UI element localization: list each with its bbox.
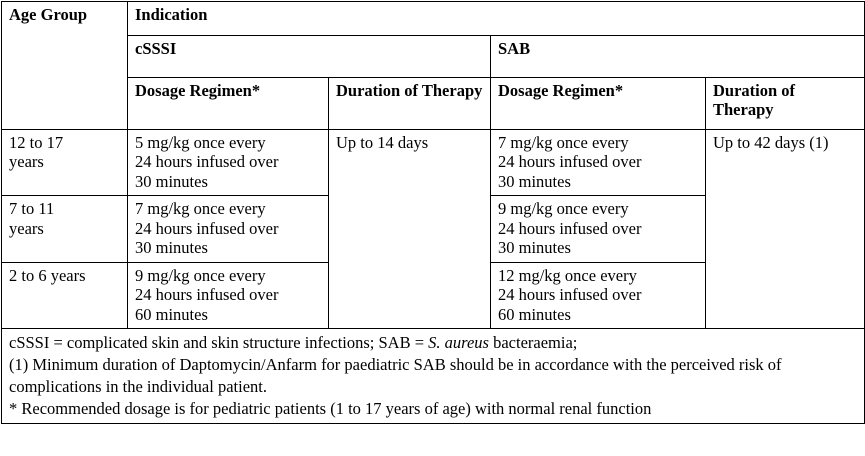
header-row-indication: Age Group Indication [2, 2, 865, 36]
cssi-dose-line-2: 24 hours infused over [135, 285, 322, 304]
cell-sab-duration: Up to 42 days (1) [706, 130, 865, 329]
pediatric-dosage-table: Age Group Indication cSSSI SAB Dosage Re… [1, 1, 865, 424]
cell-age-group: 7 to 11 years [2, 196, 128, 262]
dosage-table-document: Age Group Indication cSSSI SAB Dosage Re… [0, 1, 865, 456]
table-row: 12 to 17 years 5 mg/kg once every 24 hou… [2, 130, 865, 196]
sab-dose-line-3: 30 minutes [498, 172, 699, 191]
footnote-abbrev-prefix: cSSSI = complicated skin and skin struct… [9, 333, 428, 352]
footnote-note-asterisk: * Recommended dosage is for pediatric pa… [9, 398, 858, 420]
cssi-dose-line-3: 30 minutes [135, 172, 322, 191]
header-duration-therapy-sab: Duration of Therapy [706, 78, 865, 130]
sab-dose-line-2: 24 hours infused over [498, 285, 699, 304]
cell-sab-dosage: 7 mg/kg once every 24 hours infused over… [491, 130, 706, 196]
sab-dose-line-3: 60 minutes [498, 305, 699, 324]
cssi-dose-line-1: 7 mg/kg once every [135, 199, 322, 218]
header-sab: SAB [491, 36, 865, 78]
cssi-dose-line-3: 60 minutes [135, 305, 322, 324]
sab-dose-line-3: 30 minutes [498, 238, 699, 257]
age-group-line-1: 12 to 17 [9, 133, 121, 152]
cell-cssi-dosage: 7 mg/kg once every 24 hours infused over… [128, 196, 329, 262]
header-indication: Indication [128, 2, 865, 36]
cell-sab-dosage: 9 mg/kg once every 24 hours infused over… [491, 196, 706, 262]
cssi-dose-line-2: 24 hours infused over [135, 219, 322, 238]
age-group-line-2: years [9, 219, 121, 238]
sab-dose-line-1: 7 mg/kg once every [498, 133, 699, 152]
cell-age-group: 12 to 17 years [2, 130, 128, 196]
footnote-note-1: (1) Minimum duration of Daptomycin/Anfar… [9, 354, 858, 398]
sab-dose-line-2: 24 hours infused over [498, 219, 699, 238]
footnote-abbrev-italic: S. aureus [428, 333, 489, 352]
cell-age-group: 2 to 6 years [2, 262, 128, 328]
footnote-abbreviations: cSSSI = complicated skin and skin struct… [9, 332, 858, 354]
header-row-indication-types: cSSSI SAB [2, 36, 865, 78]
age-group-line-2: years [9, 152, 121, 171]
cssi-dose-line-1: 9 mg/kg once every [135, 266, 322, 285]
sab-dose-line-2: 24 hours infused over [498, 152, 699, 171]
sab-dose-line-1: 9 mg/kg once every [498, 199, 699, 218]
header-dosage-regimen-sab: Dosage Regimen* [491, 78, 706, 130]
cssi-dose-line-2: 24 hours infused over [135, 152, 322, 171]
age-group-line-1: 7 to 11 [9, 199, 121, 218]
header-duration-therapy-cssi: Duration of Therapy [329, 78, 491, 130]
header-dosage-regimen-cssi: Dosage Regimen* [128, 78, 329, 130]
cell-sab-dosage: 12 mg/kg once every 24 hours infused ove… [491, 262, 706, 328]
cssi-dose-line-3: 30 minutes [135, 238, 322, 257]
cssi-dose-line-1: 5 mg/kg once every [135, 133, 322, 152]
cell-cssi-duration: Up to 14 days [329, 130, 491, 329]
header-cssi: cSSSI [128, 36, 491, 78]
age-group-line-1: 2 to 6 years [9, 266, 121, 285]
footnote-abbrev-suffix: bacteraemia; [489, 333, 577, 352]
footnotes-row: cSSSI = complicated skin and skin struct… [2, 329, 865, 424]
header-age-group: Age Group [2, 2, 128, 130]
header-row-subcolumns: Dosage Regimen* Duration of Therapy Dosa… [2, 78, 865, 130]
cell-cssi-dosage: 5 mg/kg once every 24 hours infused over… [128, 130, 329, 196]
cell-cssi-dosage: 9 mg/kg once every 24 hours infused over… [128, 262, 329, 328]
footnotes-block: cSSSI = complicated skin and skin struct… [2, 329, 865, 424]
sab-dose-line-1: 12 mg/kg once every [498, 266, 699, 285]
